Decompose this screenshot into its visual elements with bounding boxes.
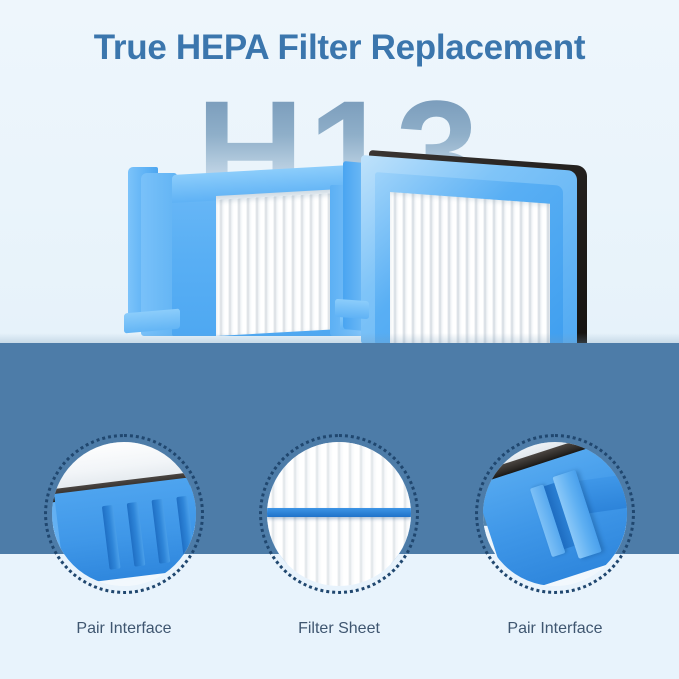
detail-caption: Pair Interface: [475, 620, 635, 638]
corner-block-slot: [127, 502, 146, 567]
corner-block-slot: [151, 499, 170, 564]
corner-block-slot: [176, 496, 195, 561]
detail-caption: Filter Sheet: [259, 620, 419, 638]
corner-block-front-face: [54, 475, 196, 585]
filter-pleated-media: [390, 192, 550, 343]
detail-caption: Pair Interface: [44, 620, 204, 638]
hero-section: H13 True HEPA Filter Replacement: [0, 0, 679, 343]
detail-item-filter-sheet: Filter Sheet: [259, 434, 419, 594]
detail-circle-frame: [475, 434, 635, 594]
detail-item-pair-interface-left: Pair Interface: [44, 434, 204, 594]
corner-block-slot: [102, 505, 121, 570]
product-infographic: H13 True HEPA Filter Replacement: [0, 0, 679, 679]
detail-circle-frame: [259, 434, 419, 594]
filter-corner-block-photo: [52, 442, 196, 586]
sheet-support-bar: [267, 508, 411, 517]
page-title: True HEPA Filter Replacement: [0, 28, 679, 68]
detail-circle-frame: [44, 434, 204, 594]
detail-item-pair-interface-right: Pair Interface: [475, 434, 635, 594]
filter-bottom-tab: [335, 299, 369, 319]
hero-floor-shadow: [0, 333, 679, 343]
pleated-filter-sheet-photo: [267, 442, 411, 586]
filter-clip-tab-photo: [483, 442, 627, 586]
product-image-hepa-filter-angled: [357, 150, 593, 343]
filter-pleated-media: [216, 193, 334, 336]
product-image-hepa-filter-front: [128, 163, 366, 343]
